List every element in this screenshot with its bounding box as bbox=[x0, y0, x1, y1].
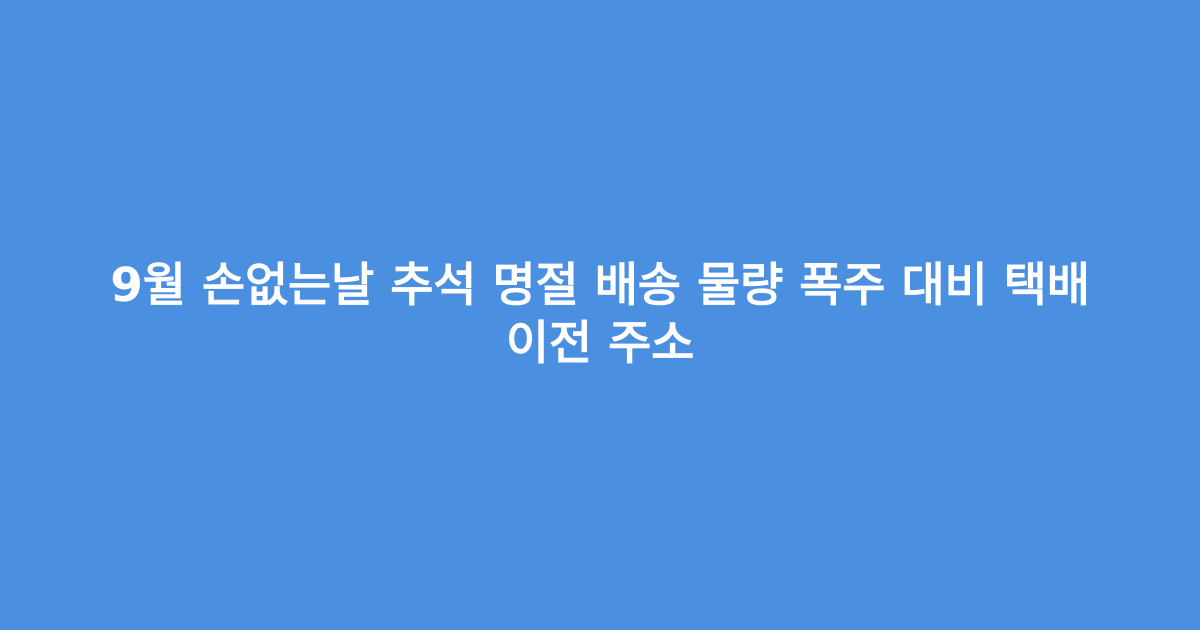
og-card-content: 9월 손없는날 추석 명절 배송 물량 폭주 대비 택배 이전 주소 bbox=[68, 257, 1132, 374]
page-title: 9월 손없는날 추석 명절 배송 물량 폭주 대비 택배 이전 주소 bbox=[68, 257, 1132, 374]
og-card: 9월 손없는날 추석 명절 배송 물량 폭주 대비 택배 이전 주소 bbox=[0, 0, 1200, 630]
